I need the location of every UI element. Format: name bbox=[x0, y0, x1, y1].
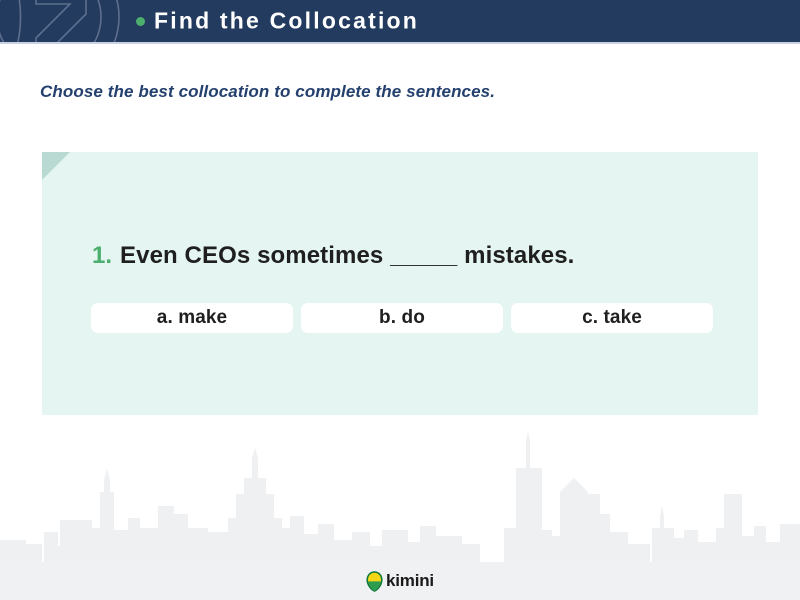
header-divider bbox=[0, 42, 800, 44]
page-title: Find the Collocation bbox=[154, 8, 419, 35]
brand-watermark-icon bbox=[0, 0, 124, 42]
question-card: 1. Even CEOs sometimes _____ mistakes. a… bbox=[42, 152, 758, 415]
city-skyline-icon bbox=[0, 432, 800, 562]
answer-options: a. make b. do c. take bbox=[91, 303, 713, 333]
answer-option-c[interactable]: c. take bbox=[511, 303, 713, 333]
answer-option-a[interactable]: a. make bbox=[91, 303, 293, 333]
answer-option-b[interactable]: b. do bbox=[301, 303, 503, 333]
green-dot-icon bbox=[136, 17, 145, 26]
brand-logo: kimini bbox=[366, 571, 434, 592]
question-text: Even CEOs sometimes _____ mistakes. bbox=[120, 242, 574, 270]
page-header: Find the Collocation bbox=[0, 0, 800, 42]
question-row: 1. Even CEOs sometimes _____ mistakes. bbox=[92, 242, 574, 270]
instruction-text: Choose the best collocation to complete … bbox=[40, 82, 495, 102]
brand-name: kimini bbox=[386, 571, 434, 591]
question-number: 1. bbox=[92, 242, 112, 270]
kimini-logo-icon bbox=[366, 571, 383, 592]
card-corner-fold-icon bbox=[42, 152, 70, 180]
page-footer: kimini bbox=[0, 562, 800, 600]
